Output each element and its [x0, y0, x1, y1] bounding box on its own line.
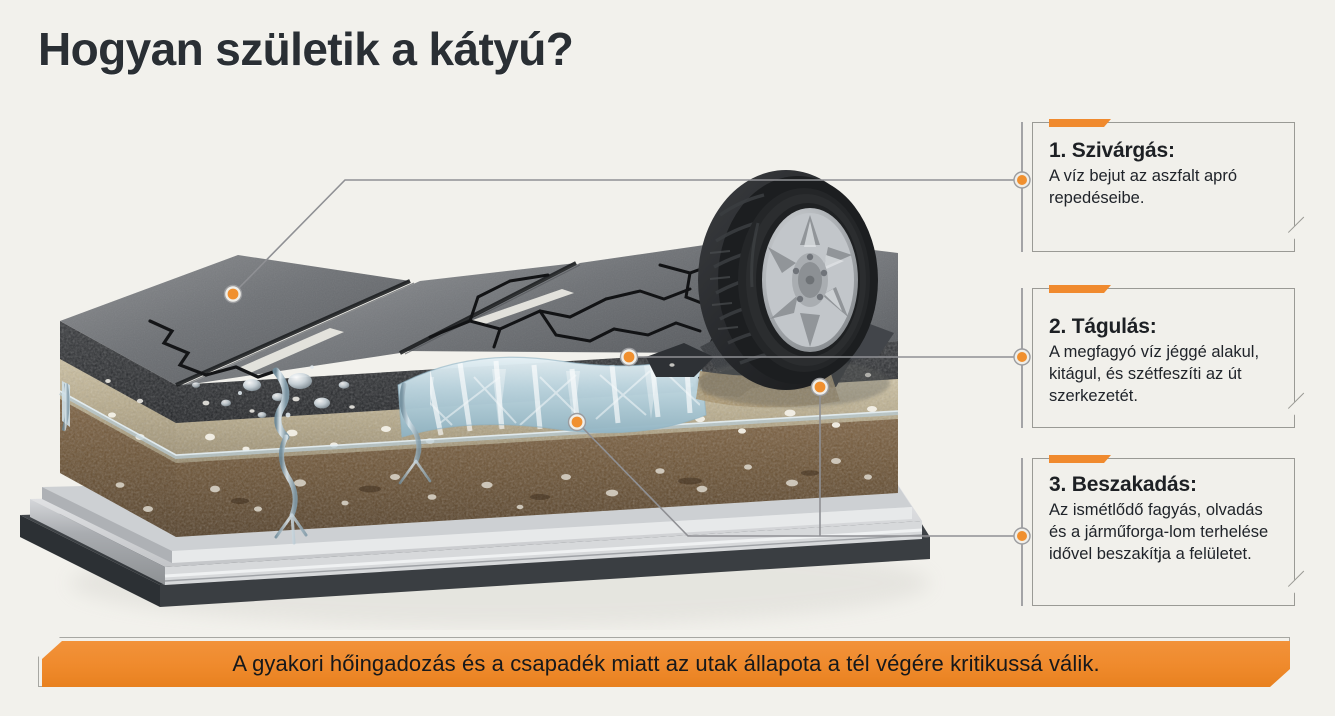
endpoint-dot-1 — [1014, 172, 1030, 188]
road-cross-section-illustration — [0, 85, 1010, 630]
card-accent-tab-2 — [1049, 285, 1111, 293]
card-heading-1: 1. Szivárgás: — [1033, 123, 1294, 163]
card-heading-3: 3. Beszakadás: — [1033, 459, 1294, 497]
card-body-3: Az ismétlődő fagyás, olvadás és a járműf… — [1033, 499, 1294, 575]
endpoint-dot-2 — [1014, 349, 1030, 365]
callout-card-3[interactable]: 3. Beszakadás: Az ismétlődő fagyás, olva… — [1032, 458, 1295, 606]
card-corner-clip-1 — [1288, 217, 1320, 249]
card-accent-tab-1 — [1049, 119, 1111, 127]
page-title: Hogyan születik a kátyú? — [38, 22, 573, 76]
rail-endpoint-dots — [1014, 172, 1030, 544]
summary-banner: A gyakori hőingadozás és a csapadék miat… — [42, 641, 1294, 691]
summary-banner-text: A gyakori hőingadozás és a csapadék miat… — [232, 651, 1099, 677]
card-corner-clip-3 — [1288, 571, 1320, 603]
summary-banner-body: A gyakori hőingadozás és a csapadék miat… — [42, 641, 1290, 687]
car-tire — [698, 170, 890, 407]
card-body-1: A víz bejut az aszfalt apró repedéseibe. — [1033, 165, 1294, 219]
card-heading-2: 2. Tágulás: — [1033, 289, 1294, 339]
card-accent-tab-3 — [1049, 455, 1111, 463]
card-body-2: A megfagyó víz jéggé alakul, kitágul, és… — [1033, 341, 1294, 417]
callout-card-1[interactable]: 1. Szivárgás: A víz bejut az aszfalt apr… — [1032, 122, 1295, 252]
endpoint-dot-3 — [1014, 528, 1030, 544]
infographic-canvas: Hogyan születik a kátyú? — [0, 0, 1335, 716]
callout-card-2[interactable]: 2. Tágulás: A megfagyó víz jéggé alakul,… — [1032, 288, 1295, 428]
